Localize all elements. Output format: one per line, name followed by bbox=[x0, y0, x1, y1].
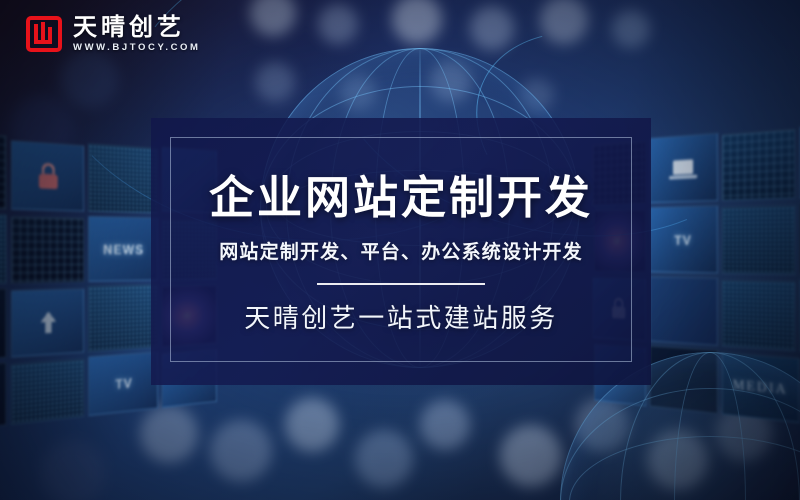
banner-subtitle: 网站定制开发、平台、办公系统设计开发 bbox=[219, 243, 583, 262]
banner-divider bbox=[317, 283, 485, 285]
brand-name: 天晴创艺 bbox=[73, 16, 201, 40]
tocy-square-logo-icon bbox=[26, 16, 62, 52]
brand-logo[interactable]: 天晴创艺 WWW.BJTOCY.COM bbox=[26, 16, 201, 53]
banner-panel: 企业网站定制开发 网站定制开发、平台、办公系统设计开发 天晴创艺一站式建站服务 bbox=[151, 118, 651, 385]
brand-website: WWW.BJTOCY.COM bbox=[73, 43, 201, 53]
brand-logo-text: 天晴创艺 WWW.BJTOCY.COM bbox=[73, 16, 201, 53]
page-title: 企业网站定制开发 bbox=[209, 176, 593, 221]
banner-stage: NEWS TV TV bbox=[0, 0, 800, 500]
banner-content: 企业网站定制开发 网站定制开发、平台、办公系统设计开发 天晴创艺一站式建站服务 bbox=[151, 118, 651, 385]
banner-tagline: 天晴创艺一站式建站服务 bbox=[244, 305, 558, 331]
